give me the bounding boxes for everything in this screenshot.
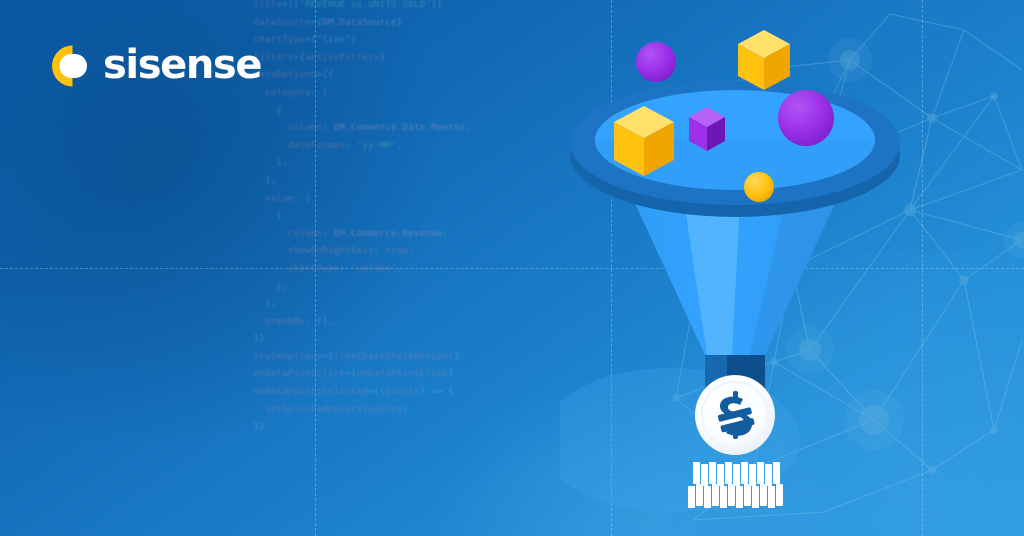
yellow-sphere-small [744,172,774,202]
yellow-cube-top [738,30,790,90]
sisense-logo-text: sisense [103,45,261,85]
sisense-logo-mark-icon [48,42,94,88]
sisense-logo[interactable]: sisense [48,42,261,88]
purple-sphere-large-right [778,90,834,146]
background-code-snippet: title={['REVENUE vs.UNITS SOLD']} dataSo… [242,0,572,436]
data-funnel-illustration [560,10,960,530]
banner-canvas: title={['REVENUE vs.UNITS SOLD']} dataSo… [0,0,1024,536]
grid-line-vertical-1 [315,0,316,536]
purple-sphere-small-top-left [636,42,676,82]
dollar-coin-icon [695,375,775,455]
